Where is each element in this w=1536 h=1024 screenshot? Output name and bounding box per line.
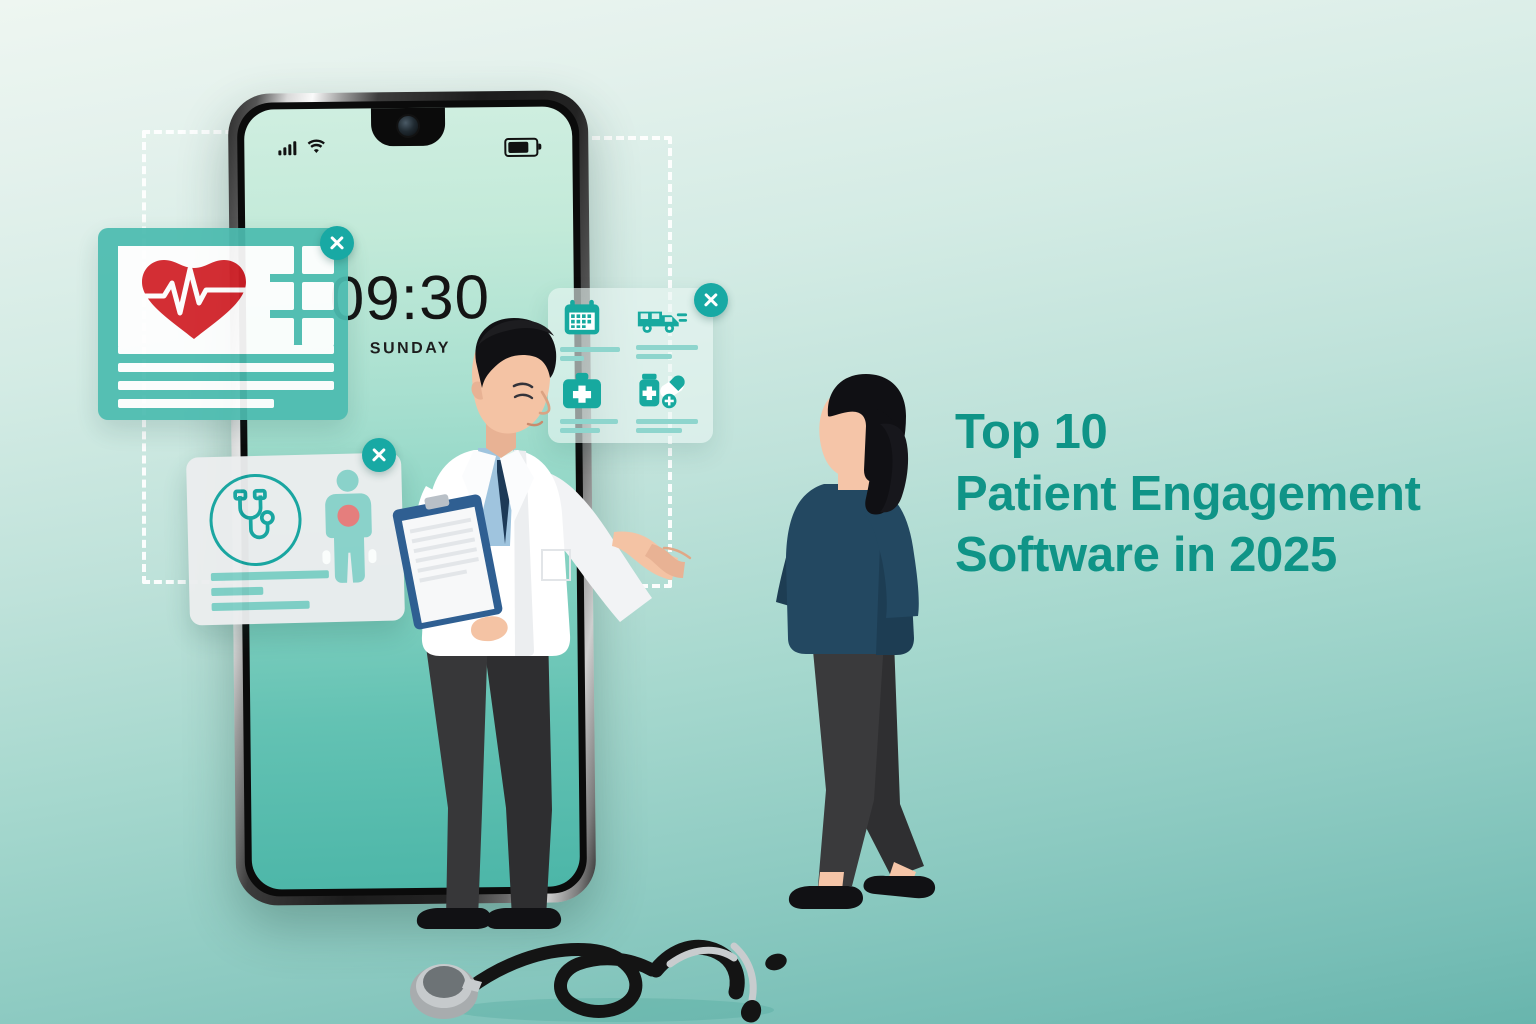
heart-rate-card[interactable]: [98, 228, 348, 420]
handshake-gesture: [612, 524, 732, 594]
examination-card-text-lines: [211, 570, 330, 611]
title-line-2: Patient Engagement: [955, 464, 1495, 526]
signal-bars-icon: [278, 141, 296, 155]
examination-card[interactable]: [186, 452, 405, 625]
close-icon[interactable]: [694, 283, 728, 317]
close-icon[interactable]: [320, 226, 354, 260]
illustration-canvas: 09:30 SUNDAY: [0, 0, 1536, 1024]
page-title: Top 10 Patient Engagement Software in 20…: [955, 402, 1495, 587]
title-line-3: Software in 2025: [955, 525, 1495, 587]
stethoscope-prop: [404, 906, 824, 1024]
doctor-figure: [386, 300, 686, 930]
battery-icon: [504, 138, 538, 157]
human-body-icon: [317, 467, 380, 584]
status-bar: [244, 132, 572, 155]
heartbeat-icon: [118, 246, 270, 346]
heart-card-grid: [262, 246, 334, 346]
heart-card-text-lines: [118, 345, 334, 408]
stethoscope-icon: [208, 473, 302, 567]
title-line-1: Top 10: [955, 402, 1495, 464]
wifi-icon: [306, 139, 326, 155]
